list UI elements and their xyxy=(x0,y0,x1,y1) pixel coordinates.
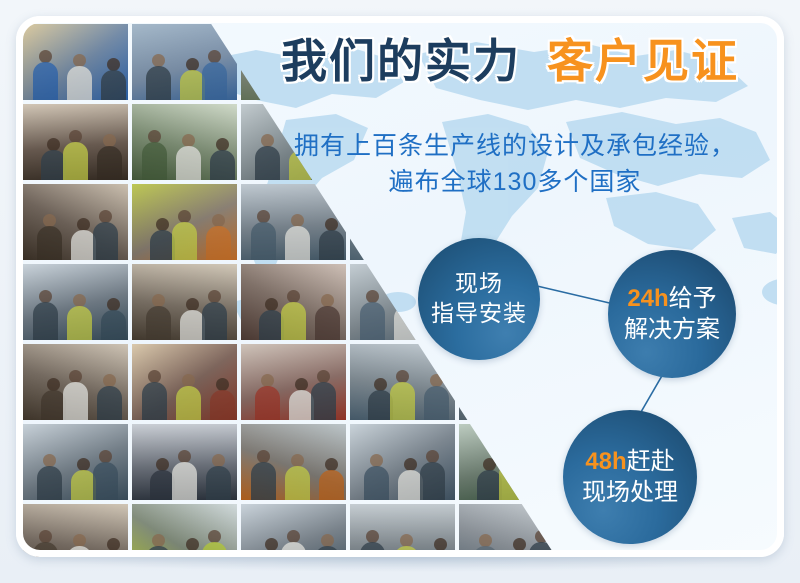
bubble-2-line-1: 24h给予 xyxy=(627,283,716,314)
photo-tile xyxy=(23,264,128,340)
page-title: 我们的实力客户见证 xyxy=(250,38,770,84)
bubble-3-highlight: 48h xyxy=(585,448,626,475)
photo-tile xyxy=(23,344,128,420)
photo-tile xyxy=(350,504,455,557)
service-bubble-onsite-installation[interactable]: 现场 指导安装 xyxy=(418,238,540,360)
photo-tile xyxy=(241,424,346,500)
subtitle-line-1: 拥有上百条生产线的设计及承包经验， xyxy=(270,128,760,164)
photo-tile xyxy=(241,344,346,420)
subtitle: 拥有上百条生产线的设计及承包经验， 遍布全球130多个国家 xyxy=(270,128,760,201)
bubble-2-line-2: 解决方案 xyxy=(624,314,720,345)
headline-part-orange: 客户见证 xyxy=(547,35,739,87)
banner-stage: 我们的实力客户见证 拥有上百条生产线的设计及承包经验， 遍布全球130多个国家 … xyxy=(0,0,800,583)
photo-tile xyxy=(23,24,128,100)
photo-tile xyxy=(241,264,346,340)
photo-tile xyxy=(132,424,237,500)
subtitle-line-2: 遍布全球130多个国家 xyxy=(270,164,760,200)
bubble-1-line-2: 指导安装 xyxy=(431,299,527,329)
bubble-1-line-1: 现场 xyxy=(455,269,503,299)
photo-tile xyxy=(350,424,455,500)
bubble-2-highlight: 24h xyxy=(627,285,668,312)
photo-tile xyxy=(132,184,237,260)
photo-tile xyxy=(23,424,128,500)
service-bubble-48h-onsite[interactable]: 48h赶赴 现场处理 xyxy=(563,410,697,544)
photo-tile xyxy=(23,504,128,557)
headline-part-dark: 我们的实力 xyxy=(281,35,521,87)
photo-tile xyxy=(132,264,237,340)
service-bubble-24h-solution[interactable]: 24h给予 解决方案 xyxy=(608,250,736,378)
photo-tile xyxy=(132,104,237,180)
bubble-2-rest: 给予 xyxy=(669,285,717,312)
bubble-3-rest: 赶赴 xyxy=(627,448,675,475)
bubble-3-line-1: 48h赶赴 xyxy=(585,446,674,477)
photo-tile xyxy=(23,184,128,260)
photo-tile xyxy=(132,344,237,420)
photo-tile xyxy=(23,104,128,180)
photo-tile xyxy=(241,504,346,557)
photo-tile xyxy=(132,504,237,557)
bubble-3-line-2: 现场处理 xyxy=(582,477,678,508)
card-drop-shadow xyxy=(40,556,760,572)
